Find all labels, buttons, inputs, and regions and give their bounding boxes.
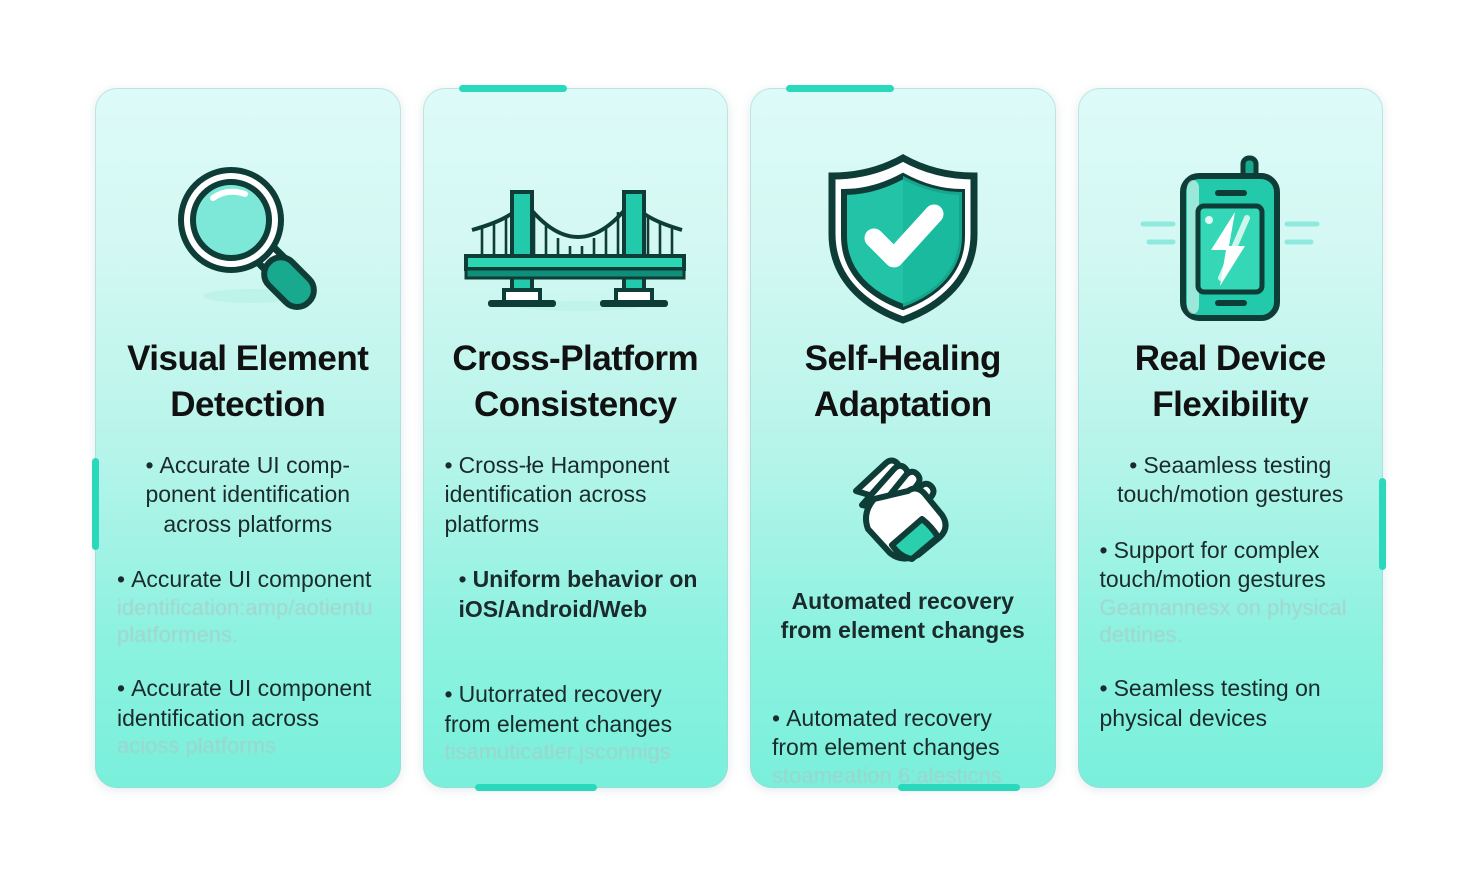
infographic-canvas: Visual Element Detection •Accurate UI co… <box>0 0 1462 880</box>
bullet-text: Accurate UI component <box>131 566 371 592</box>
feature-card-cross-platform-consistency[interactable]: Cross-Platform Consistency •Cross-łe Ham… <box>423 88 729 788</box>
magnifying-glass-icon <box>95 150 401 326</box>
bullet-text: Accurate UI comp-ponent identification a… <box>145 452 350 537</box>
bullet-item: •Seamless testing on physical devices <box>1100 674 1362 733</box>
bullet-item: •Accurate UI component identification:am… <box>117 565 379 648</box>
bullet-dot: • <box>1100 674 1108 703</box>
bullet-ghost-text: acioss platforms <box>117 733 379 760</box>
card-title: Self-Healing Adaptation <box>750 336 1056 427</box>
bullet-dot: • <box>772 704 780 733</box>
bullet-dot: • <box>117 674 125 703</box>
bullet-item: •Accurate UI comp-ponent identification … <box>117 451 379 539</box>
accent-tab-top <box>459 85 567 92</box>
accent-tab-bottom <box>898 784 1020 791</box>
bullet-text: Accurate UI component identification acr… <box>117 675 371 730</box>
bullet-ghost-text: tisamuticatler.jsconnigs <box>445 739 707 766</box>
bullet-item: •Uutorrated recovery from element change… <box>445 680 707 766</box>
bullet-ghost-text: identification:amp/aotientu platformens. <box>117 595 379 649</box>
bullet-dot: • <box>117 565 125 594</box>
bullet-dot: • <box>445 451 453 480</box>
bullet-item: •Uniform behavior on iOS/Android/Web <box>445 565 707 624</box>
bullet-text: Uutorrated recovery from element changes <box>445 681 673 736</box>
feature-cards-row: Visual Element Detection •Accurate UI co… <box>95 88 1383 788</box>
accent-tab-top <box>786 85 894 92</box>
bullet-text: Automated recovery from element changes <box>781 588 1025 643</box>
bullet-item: •Support for complex touch/motion gestur… <box>1100 536 1362 649</box>
bullet-text: Uniform behavior on iOS/Android/Web <box>459 566 698 621</box>
feature-card-self-healing-adaptation[interactable]: Self-Healing Adaptation <box>750 88 1056 788</box>
feature-card-real-device-flexibility[interactable]: Real Device Flexibility •Seaamless testi… <box>1078 88 1384 788</box>
bullet-list: •Seaamless testing touch/motion gestures… <box>1078 451 1384 733</box>
swipe-hand-icon <box>772 447 1034 563</box>
phone-lightning-icon <box>1078 150 1384 326</box>
bullet-item: •Seaamless testing touch/motion gestures <box>1100 451 1362 510</box>
accent-tab-left <box>92 458 99 550</box>
bullet-ghost-text: Geamannesx on physical dettines. <box>1100 595 1362 649</box>
shield-check-icon <box>750 150 1056 326</box>
bullet-dot: • <box>145 451 153 480</box>
bullet-item: •Cross-łe Hamponent identification acros… <box>445 451 707 539</box>
accent-tab-right <box>1379 478 1386 570</box>
bullet-dot: • <box>445 680 453 709</box>
feature-card-visual-element-detection[interactable]: Visual Element Detection •Accurate UI co… <box>95 88 401 788</box>
bullet-dot: • <box>459 565 467 594</box>
bullet-text: Automated recovery from element changes <box>772 705 1000 760</box>
accent-tab-bottom <box>475 784 597 791</box>
card-title: Cross-Platform Consistency <box>423 336 729 427</box>
card-title: Real Device Flexibility <box>1078 336 1384 427</box>
bullet-dot: • <box>1100 536 1108 565</box>
bullet-text: Cross-łe Hamponent identification across… <box>445 452 670 537</box>
bullet-item: •Automated recovery from element changes… <box>772 704 1034 790</box>
bullet-list: Automated recovery from element changes … <box>750 451 1056 790</box>
bullet-text: Seaamless testing touch/motion gestures <box>1117 452 1343 507</box>
bullet-item: Automated recovery from element changes <box>772 587 1034 646</box>
bullet-list: •Accurate UI comp-ponent identification … <box>95 451 401 760</box>
suspension-bridge-icon <box>423 150 729 326</box>
bullet-list: •Cross-łe Hamponent identification acros… <box>423 451 729 766</box>
bullet-item: •Accurate UI component identification ac… <box>117 674 379 760</box>
bullet-text: Seamless testing on physical devices <box>1100 675 1321 730</box>
card-title: Visual Element Detection <box>95 336 401 427</box>
bullet-text: Support for complex touch/motion gesture… <box>1100 537 1326 592</box>
bullet-dot: • <box>1129 451 1137 480</box>
